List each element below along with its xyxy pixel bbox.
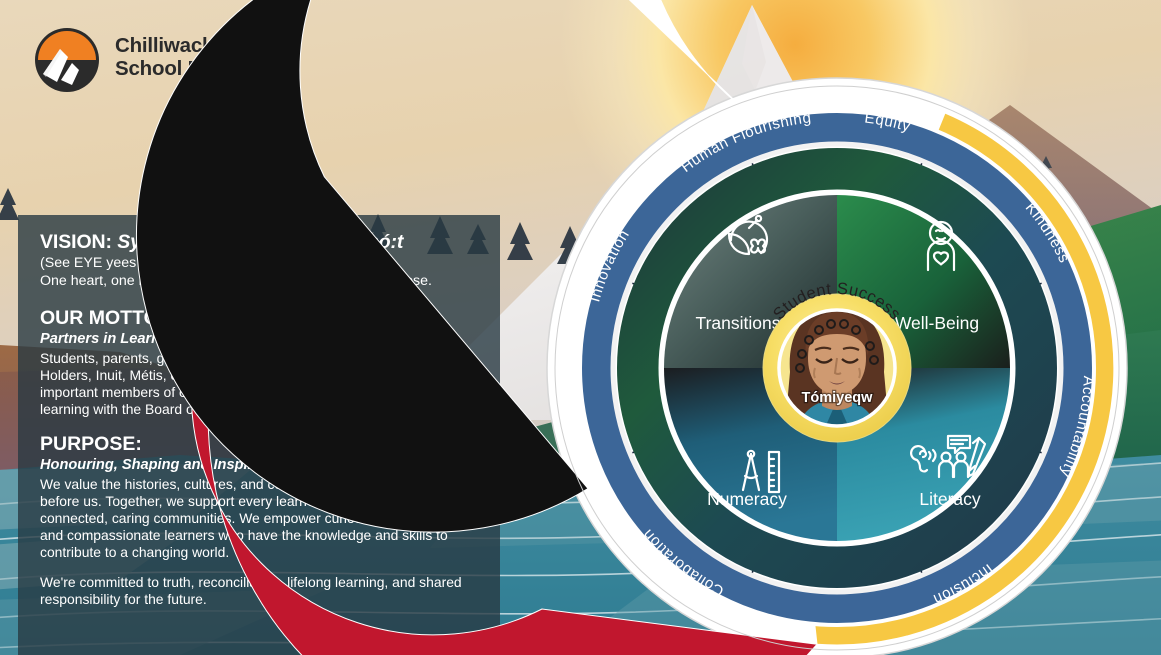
center-medallion: Student Success Tómiyeqw xyxy=(763,280,911,442)
infographic-canvas: Chilliwack School District VISION: Syós:… xyxy=(0,0,1161,655)
quadrant-label-numeracy: Numeracy xyxy=(707,489,787,509)
mountain-sun-logo-icon xyxy=(34,27,100,93)
quadrant-label-well-being: Well-Being xyxy=(895,313,979,333)
vision-label: VISION: xyxy=(40,231,112,253)
student-success-wheel: Equity Kindness Accountability Inclusion… xyxy=(541,72,1133,655)
center-name: Tómiyeqw xyxy=(802,390,874,406)
quadrant-label-transitions: Transitions xyxy=(696,313,781,333)
quadrant-label-literacy: Literacy xyxy=(919,489,981,509)
